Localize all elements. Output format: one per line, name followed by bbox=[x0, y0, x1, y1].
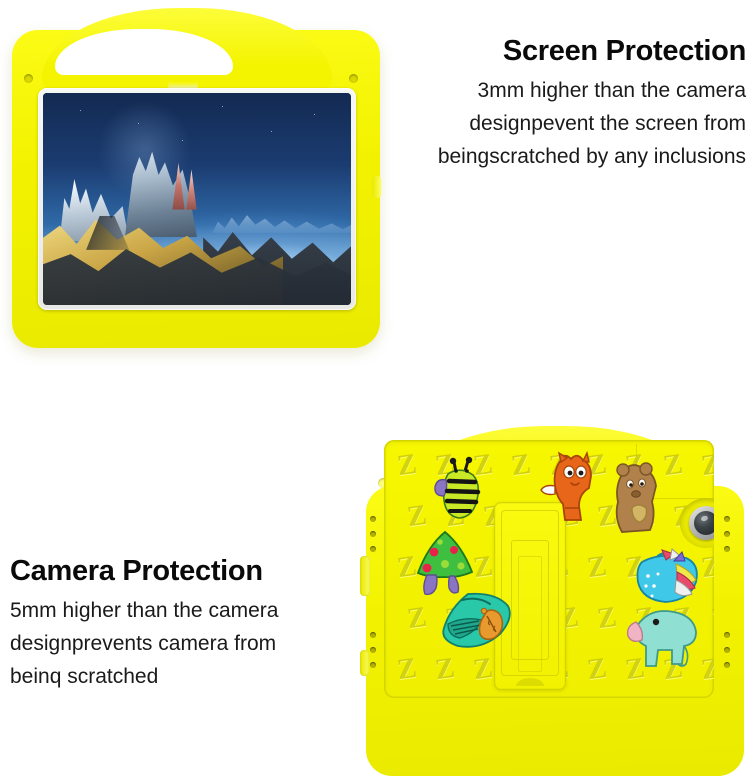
back-side-button-left-lower[interactable] bbox=[360, 650, 369, 676]
guitar-figure bbox=[438, 590, 516, 652]
tablet-screen bbox=[43, 93, 351, 305]
front-side-button bbox=[372, 176, 381, 198]
speaker-hole bbox=[370, 647, 376, 653]
wallpaper-star bbox=[182, 140, 183, 141]
screen-protection-line-2: designpevent the screen from bbox=[438, 107, 746, 140]
z-emboss-glyph: Z bbox=[588, 601, 626, 635]
speaker-holes-left-lower bbox=[370, 632, 376, 677]
camera-protection-text-block: Camera Protection 5mm higher than the ca… bbox=[10, 556, 278, 693]
speaker-hole bbox=[724, 647, 730, 653]
kickstand-outline-inner bbox=[518, 556, 542, 672]
front-shoulder-hole-right bbox=[349, 74, 358, 83]
screen-protection-line-1: 3mm higher than the camera bbox=[438, 74, 746, 107]
speaker-hole bbox=[370, 632, 376, 638]
speaker-hole bbox=[724, 531, 730, 537]
tablet-case-back: ZZZZZZZZZZZZZZZZZZZZZZZZZZZZZZZZZZZZZZZZ… bbox=[360, 424, 750, 750]
z-emboss-glyph: Z bbox=[388, 448, 426, 482]
wallpaper-star bbox=[80, 110, 81, 111]
camera-protection-line-3: beinq scratched bbox=[10, 660, 278, 693]
speaker-holes-right-upper bbox=[724, 516, 730, 561]
kickstand-thumb-notch[interactable] bbox=[516, 678, 544, 686]
screen-protection-text-block: Screen Protection 3mm higher than the ca… bbox=[438, 36, 746, 173]
mushroom-figure bbox=[412, 528, 478, 598]
camera-protection-line-2: designprevents camera from bbox=[10, 627, 278, 660]
bee-icon bbox=[432, 456, 488, 522]
back-textured-plate: ZZZZZZZZZZZZZZZZZZZZZZZZZZZZZZZZZZZZZZZZ… bbox=[384, 440, 714, 698]
speaker-holes-left-upper bbox=[370, 516, 376, 561]
bear-icon bbox=[606, 462, 666, 538]
front-bezel bbox=[38, 88, 356, 310]
back-side-button-left[interactable] bbox=[360, 556, 370, 596]
elephant-icon bbox=[624, 606, 702, 672]
speaker-hole bbox=[370, 531, 376, 537]
camera-protection-heading: Camera Protection bbox=[10, 556, 278, 588]
bag-icon bbox=[632, 548, 706, 608]
z-emboss-glyph: Z bbox=[502, 448, 540, 482]
z-emboss-glyph: Z bbox=[578, 652, 616, 686]
speaker-hole bbox=[724, 516, 730, 522]
z-emboss-glyph: Z bbox=[578, 550, 616, 584]
tablet-case-front bbox=[0, 8, 392, 356]
wallpaper-star bbox=[222, 106, 223, 107]
speaker-hole bbox=[370, 662, 376, 668]
z-emboss-glyph: Z bbox=[398, 601, 436, 635]
front-shoulder-hole-left bbox=[24, 74, 33, 83]
product-image-canvas: Screen Protection 3mm higher than the ca… bbox=[0, 0, 750, 750]
screen-protection-heading: Screen Protection bbox=[438, 36, 746, 68]
camera-protection-line-1: 5mm higher than the camera bbox=[10, 594, 278, 627]
camera-lens bbox=[694, 511, 714, 535]
camera-ring bbox=[689, 506, 714, 540]
speaker-hole bbox=[724, 632, 730, 638]
speaker-hole bbox=[370, 546, 376, 552]
speaker-hole bbox=[724, 546, 730, 552]
bear-figure bbox=[606, 462, 666, 538]
speaker-hole bbox=[370, 516, 376, 522]
screen-protection-line-3: beingscratched by any inclusions bbox=[438, 140, 746, 173]
guitar-case-icon bbox=[438, 590, 516, 652]
cat-icon bbox=[539, 450, 601, 522]
bag-figure bbox=[632, 548, 706, 608]
mushroom-icon bbox=[412, 528, 478, 598]
bee-figure bbox=[432, 456, 488, 522]
speaker-hole bbox=[724, 662, 730, 668]
cat-figure bbox=[539, 450, 601, 522]
elephant-figure bbox=[624, 606, 702, 672]
z-emboss-glyph: Z bbox=[426, 652, 464, 686]
speaker-holes-right-lower bbox=[724, 632, 730, 677]
z-emboss-glyph: Z bbox=[388, 652, 426, 686]
camera-lens-glint bbox=[700, 515, 708, 522]
